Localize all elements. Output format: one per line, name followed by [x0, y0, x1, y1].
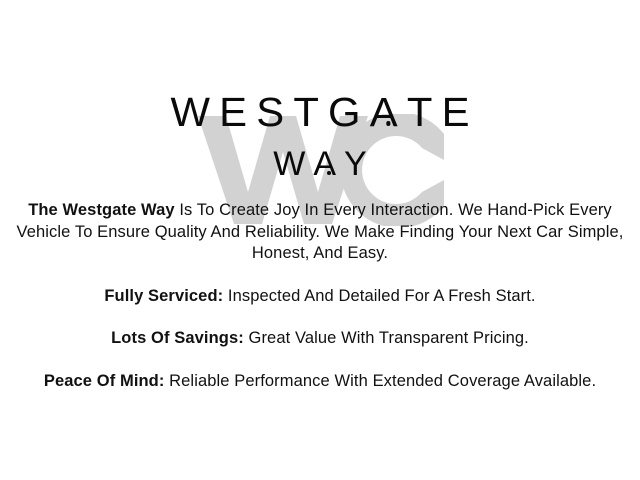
logo-letter: T	[293, 89, 328, 135]
logo-letter-a-dotted: A	[370, 92, 407, 133]
paragraph-lead: The Westgate Way	[28, 201, 174, 219]
value-proposition-copy: The Westgate Way Is To Create Joy In Eve…	[14, 200, 626, 392]
westgate-way-panel: WESTGATE WAY The Westgate Way Is To Crea…	[0, 0, 640, 480]
paragraph-intro: The Westgate Way Is To Create Joy In Eve…	[14, 200, 626, 265]
logo-letter: W	[170, 89, 219, 135]
logo-letter: E	[219, 89, 256, 135]
paragraph-text: Reliable Performance With Extended Cover…	[164, 372, 596, 390]
brand-logo: WESTGATE WAY	[0, 52, 640, 180]
logo-letter: T	[407, 89, 442, 135]
paragraph-lead: Lots Of Savings:	[111, 329, 244, 347]
logo-primary-word: WESTGATE	[0, 92, 640, 133]
paragraph-lead: Fully Serviced:	[104, 287, 223, 305]
logo-lockup: WESTGATE WAY	[0, 52, 640, 181]
logo-letter-a-dotted: A	[313, 147, 344, 181]
logo-letter: E	[442, 89, 479, 135]
logo-secondary-word: WAY	[0, 147, 640, 181]
paragraph-lots-of-savings: Lots Of Savings: Great Value With Transp…	[14, 328, 626, 350]
logo-letter: G	[328, 89, 370, 135]
paragraph-peace-of-mind: Peace Of Mind: Reliable Performance With…	[14, 371, 626, 393]
logo-letter: W	[273, 145, 313, 183]
paragraph-fully-serviced: Fully Serviced: Inspected And Detailed F…	[14, 286, 626, 308]
paragraph-text: Inspected And Detailed For A Fresh Start…	[223, 287, 535, 305]
paragraph-lead: Peace Of Mind:	[44, 372, 165, 390]
paragraph-text: Great Value With Transparent Pricing.	[244, 329, 529, 347]
logo-letter: Y	[344, 145, 375, 183]
logo-letter: S	[256, 89, 293, 135]
